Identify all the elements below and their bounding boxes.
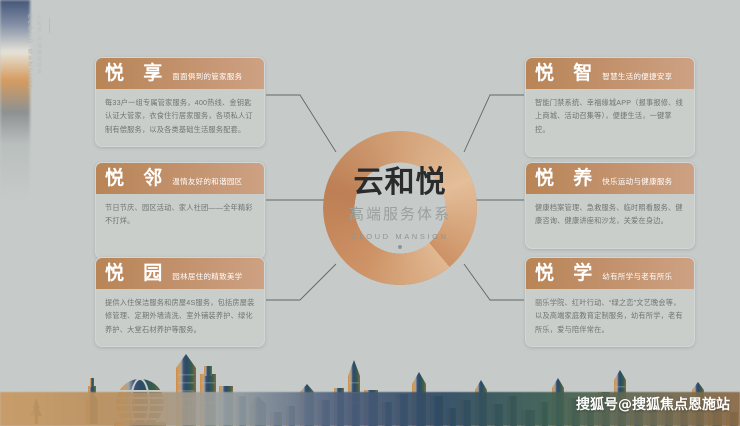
- center-subtitle: 高端服务体系: [349, 203, 451, 224]
- card-yuezhi-header: 悦 智 智慧生活的便捷安享: [526, 58, 694, 89]
- card-yueyuan-body: 提供入住保洁服务和房屋4S服务，包括房屋装修管理、定期外墙清洗、室外铺装养护、绿…: [96, 289, 264, 346]
- card-yuelin-subtitle: 温情友好的和谐园区: [172, 176, 242, 187]
- card-yuelin[interactable]: 悦 邻 温情友好的和谐园区 节日节庆、园区活动、家人社团——全年精彩不打烊。: [95, 162, 265, 259]
- card-yuexue-body: 丽乐学院、红叶行动、“绿之恋”文艺晚会等，以及高端家庭教育定制服务，幼有所学，老…: [526, 289, 694, 346]
- card-yuexiang-subtitle: 面面俱到的管家服务: [172, 71, 242, 82]
- card-yueyuan-subtitle: 园林居住的精致美学: [172, 271, 242, 282]
- card-yueyang-title: 悦 养: [535, 169, 599, 188]
- card-yuexiang-title: 悦 享: [105, 64, 169, 83]
- card-yueyuan-title: 悦 园: [105, 264, 169, 283]
- card-yuelin-header: 悦 邻 温情友好的和谐园区: [96, 163, 264, 194]
- card-yueyang-subtitle: 快乐运动与健康服务: [602, 176, 672, 187]
- card-yuelin-body: 节日节庆、园区活动、家人社团——全年精彩不打烊。: [96, 194, 264, 258]
- center-title: 云和悦: [354, 167, 447, 199]
- card-yuelin-title: 悦 邻: [105, 169, 169, 188]
- card-yuezhi-subtitle: 智慧生活的便捷安享: [602, 71, 672, 82]
- card-yuexue-title: 悦 学: [535, 264, 599, 283]
- card-yuexiang[interactable]: 悦 享 面面俱到的管家服务 每33户一组专属管家服务，400热线、金钥匙认证大管…: [95, 57, 265, 147]
- card-yueyang-header: 悦 养 快乐运动与健康服务: [526, 163, 694, 194]
- card-yuexue[interactable]: 悦 学 幼有所学与老有所乐 丽乐学院、红叶行动、“绿之恋”文艺晚会等，以及高端家…: [525, 257, 695, 347]
- source-watermark: 搜狐号@搜狐焦点恩施站: [576, 394, 730, 414]
- center-hub-content: 云和悦 高端服务体系 CLOUD MANSION: [332, 140, 468, 276]
- card-yuexiang-header: 悦 享 面面俱到的管家服务: [96, 58, 264, 89]
- card-yuexiang-body: 每33户一组专属管家服务，400热线、金钥匙认证大管家，衣食住行居家服务，各项私…: [96, 89, 264, 146]
- card-yueyuan[interactable]: 悦 园 园林居住的精致美学 提供入住保洁服务和房屋4S服务，包括房屋装修管理、定…: [95, 257, 265, 347]
- card-yuexue-subtitle: 幼有所学与老有所乐: [602, 271, 672, 282]
- center-hub-ring: 云和悦 高端服务体系 CLOUD MANSION: [323, 131, 477, 285]
- center-english-label: CLOUD MANSION: [351, 232, 448, 241]
- card-yueyuan-header: 悦 园 园林居住的精致美学: [96, 258, 264, 289]
- card-yueyang[interactable]: 悦 养 快乐运动与健康服务 健康档案管理、急救服务、临时照看服务、健康咨询、健康…: [525, 162, 695, 249]
- infographic-canvas: CLOUD MANSION 云和悦·高端服务体系 云和悦 高端服务体系 CLOU…: [0, 0, 740, 426]
- card-yuezhi-title: 悦 智: [535, 64, 599, 83]
- card-yuezhi[interactable]: 悦 智 智慧生活的便捷安享 智能门禁系统、幸福缘城APP（报事报修、线上商城、活…: [525, 57, 695, 157]
- center-dot-marker: [398, 245, 402, 249]
- card-yueyang-body: 健康档案管理、急救服务、临时照看服务、健康咨询、健康讲座和沙龙，关爱在身边。: [526, 194, 694, 248]
- card-yuezhi-body: 智能门禁系统、幸福缘城APP（报事报修、线上商城、活动召集等），便捷生活，一键掌…: [526, 89, 694, 156]
- card-yuexue-header: 悦 学 幼有所学与老有所乐: [526, 258, 694, 289]
